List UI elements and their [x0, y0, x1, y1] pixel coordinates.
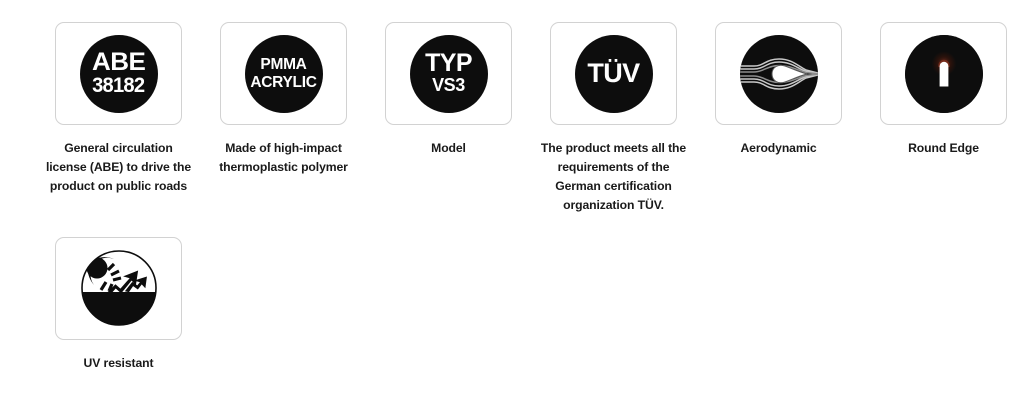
badge-icon-box: ABE 38182: [55, 22, 182, 125]
abe-label-top: ABE: [92, 51, 145, 74]
badge-caption: The product meets all the requirements o…: [538, 139, 690, 215]
round-edge-profile-icon: [905, 35, 983, 113]
badge-caption: UV resistant: [43, 354, 195, 373]
badge-item-round-edge[interactable]: Round Edge: [861, 22, 1024, 215]
uv-resistant-sun-icon: [80, 249, 158, 327]
abe-label-number: 38182: [92, 75, 144, 96]
badge-grid: ABE 38182 General circulation license (A…: [0, 0, 1024, 373]
badge-icon-box: PMMA ACRYLIC: [220, 22, 347, 125]
typ-label-bottom: VS3: [432, 76, 465, 95]
pmma-acrylic-circle-icon: PMMA ACRYLIC: [245, 35, 323, 113]
badge-item-pmma[interactable]: PMMA ACRYLIC Made of high-impact thermop…: [201, 22, 366, 215]
badge-item-abe[interactable]: ABE 38182 General circulation license (A…: [36, 22, 201, 215]
badge-icon-box: TYP VS3: [385, 22, 512, 125]
badge-caption: Aerodynamic: [703, 139, 855, 158]
badge-caption: General circulation license (ABE) to dri…: [43, 139, 195, 196]
badge-item-typ[interactable]: TYP VS3 Model: [366, 22, 531, 215]
badge-caption: Model: [373, 139, 525, 158]
badge-icon-box: [880, 22, 1007, 125]
badge-icon-box: [715, 22, 842, 125]
badge-caption: Made of high-impact thermoplastic polyme…: [208, 139, 360, 177]
typ-model-circle-icon: TYP VS3: [410, 35, 488, 113]
badge-item-uv-resistant[interactable]: UV resistant: [36, 237, 201, 373]
badge-icon-box: [55, 237, 182, 340]
badge-icon-box: TÜV: [550, 22, 677, 125]
tuv-certification-circle-icon: TÜV: [575, 35, 653, 113]
badge-caption: Round Edge: [868, 139, 1020, 158]
badge-item-aerodynamic[interactable]: Aerodynamic: [696, 22, 861, 215]
tuv-label: TÜV: [587, 60, 639, 87]
aerodynamic-airflow-icon: [740, 35, 818, 113]
badge-item-tuv[interactable]: TÜV The product meets all the requiremen…: [531, 22, 696, 215]
pmma-label-top: PMMA: [260, 56, 306, 73]
abe-circle-icon: ABE 38182: [80, 35, 158, 113]
typ-label-top: TYP: [425, 52, 472, 76]
pmma-label-bottom: ACRYLIC: [250, 74, 316, 91]
